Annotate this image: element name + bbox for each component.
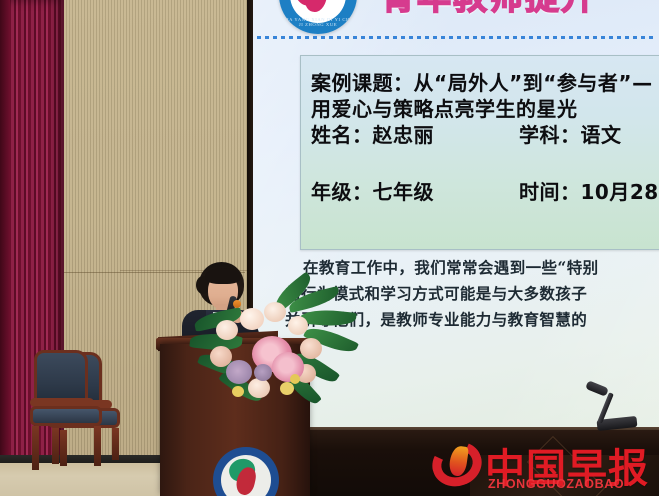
flower-arrangement [196, 286, 366, 416]
stage-curtain-edge [0, 0, 10, 470]
date-field: 时间：10月28 [519, 176, 659, 205]
grade-field: 年级：七年级 [311, 176, 434, 205]
speaker-fringe [205, 268, 241, 284]
school-logo-icon: SHA YANG XIAN DI YI CHU JI ZHONG XUE [279, 0, 357, 34]
slide-divider-dotted [257, 36, 657, 39]
slide-header-title: 青年教师提升 [381, 0, 597, 19]
conference-hall-scene: SHA YANG XIAN DI YI CHU JI ZHONG XUE 青年教… [0, 0, 659, 496]
presenter-name: 姓名：赵忠丽 [311, 119, 434, 148]
case-title-line-2: 用爱心与策略点亮学生的星光 [311, 93, 578, 122]
body-line-1: 在教育工作中，我们常常会遇到一些“特别 [303, 255, 659, 281]
watermark-pinyin-text: ZHONGGUOZAOBAO [488, 477, 624, 491]
subject-field: 学科：语文 [519, 119, 622, 148]
school-logo-ring-text: SHA YANG XIAN DI YI CHU JI ZHONG XUE [279, 17, 357, 27]
slide-header-band: SHA YANG XIAN DI YI CHU JI ZHONG XUE 青年教… [253, 0, 659, 32]
slide-info-card: 案例课题：从“局外人”到“参与者”— 用爱心与策略点亮学生的星光 姓名：赵忠丽 … [300, 55, 659, 250]
case-title-line-1: 案例课题：从“局外人”到“参与者”— [311, 67, 653, 96]
watermark-logo: 中国早报 ZHONGGUOZAOBAO [432, 436, 659, 492]
